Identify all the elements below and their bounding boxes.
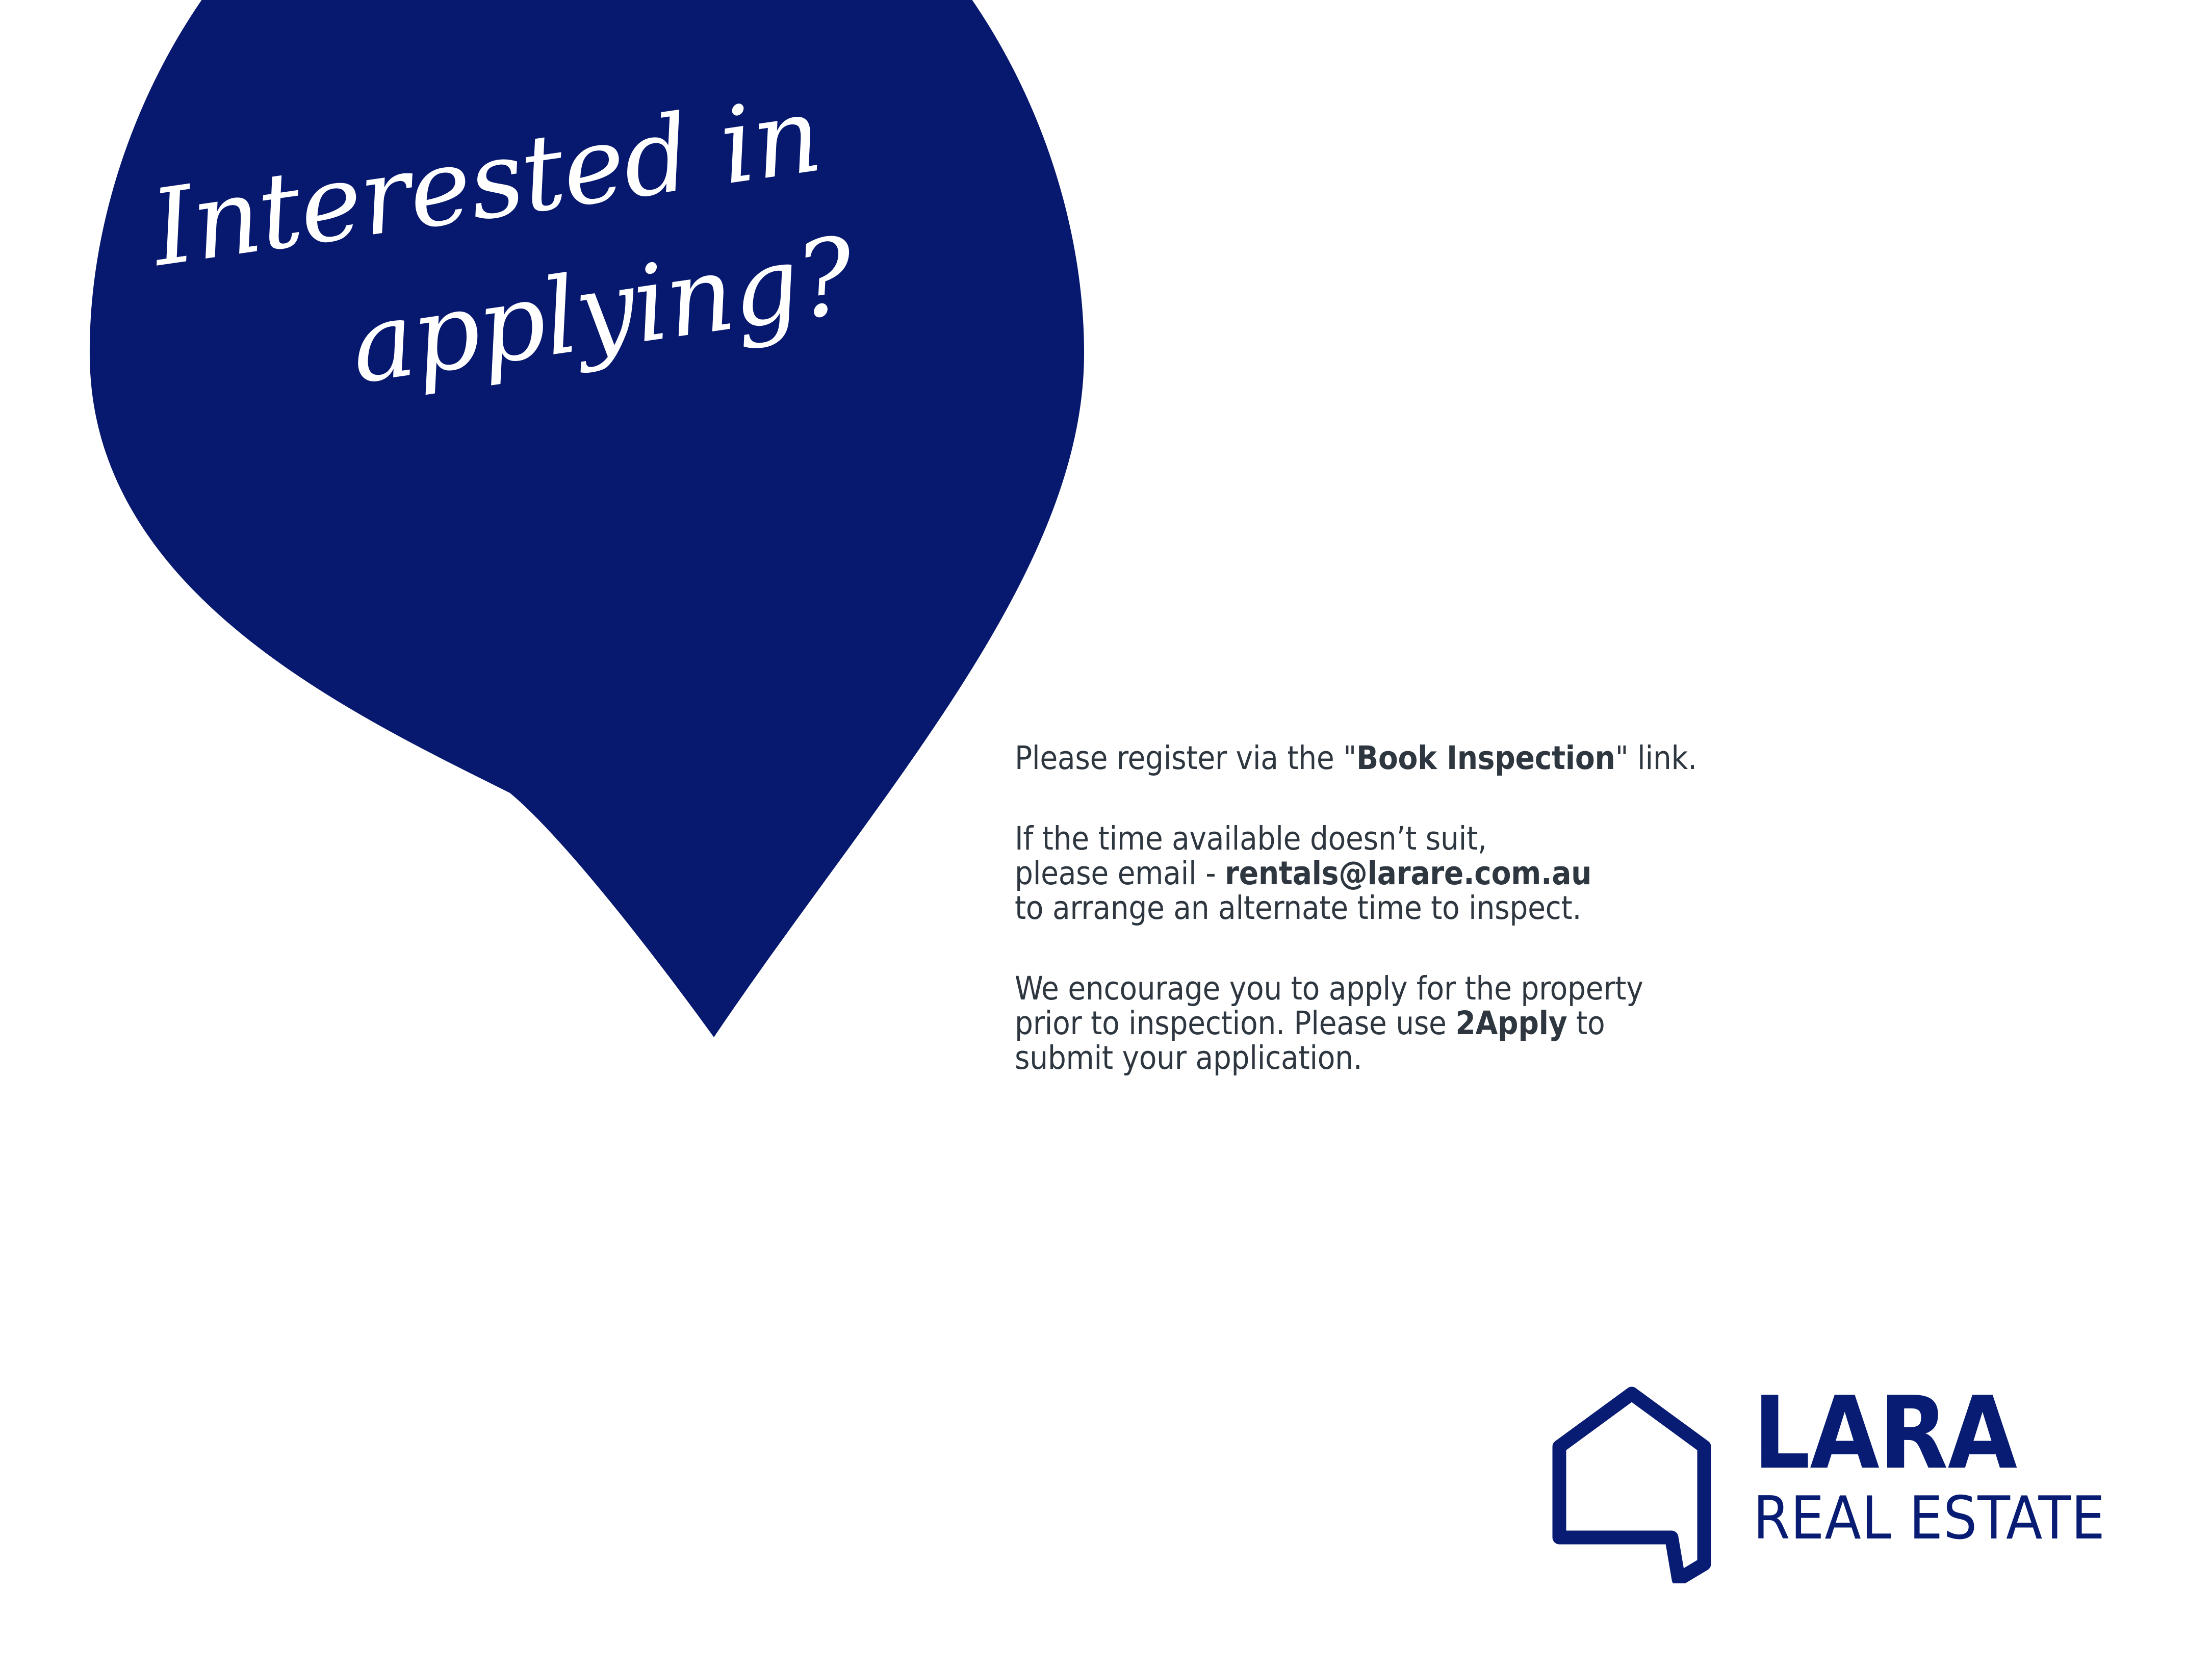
paragraph-register: Please register via the "Book Inspection… [1015,741,2137,776]
paragraph-apply-line-1: We encourage you to apply for the proper… [1015,971,2137,1006]
logo-name: LARA [1753,1394,2156,1474]
register-text-before: Please register via the " [1015,739,1356,777]
rentals-email-address[interactable]: rentals@larare.com.au [1225,855,1591,892]
paragraph-email-line-2: please email - rentals@larare.com.au [1015,856,2137,891]
headline-block: Interested in applying? [0,0,1173,637]
apply-text-before: prior to inspection. Please use [1015,1005,1455,1042]
book-inspection-emphasis: Book Inspection [1356,739,1615,777]
paragraph-email-line-1: If the time available doesn’t suit, [1015,822,2137,856]
paragraph-spacer-1 [1015,776,2137,822]
paragraph-apply-line-3: submit your application. [1015,1041,2137,1075]
logo-wordmark: LARA REAL ESTATE [1753,1394,2156,1548]
email-text-before: please email - [1015,855,1225,892]
logo-tagline: REAL ESTATE [1753,1489,2156,1548]
apply-text-after: to [1567,1005,1605,1042]
twoapply-emphasis[interactable]: 2Apply [1455,1005,1567,1042]
paragraph-apply-line-2: prior to inspection. Please use 2Apply t… [1015,1006,2137,1041]
register-text-after: " link. [1615,739,1697,777]
paragraph-spacer-2 [1015,926,2137,971]
paragraph-email-line-3: to arrange an alternate time to inspect. [1015,891,2137,926]
lara-real-estate-logo[interactable]: LARA REAL ESTATE [1550,1384,2162,1588]
body-copy-block: Please register via the "Book Inspection… [1015,741,2137,1075]
house-speech-bubble-icon [1550,1384,1713,1583]
poster-canvas: Interested in applying? Please register … [0,0,2212,1668]
